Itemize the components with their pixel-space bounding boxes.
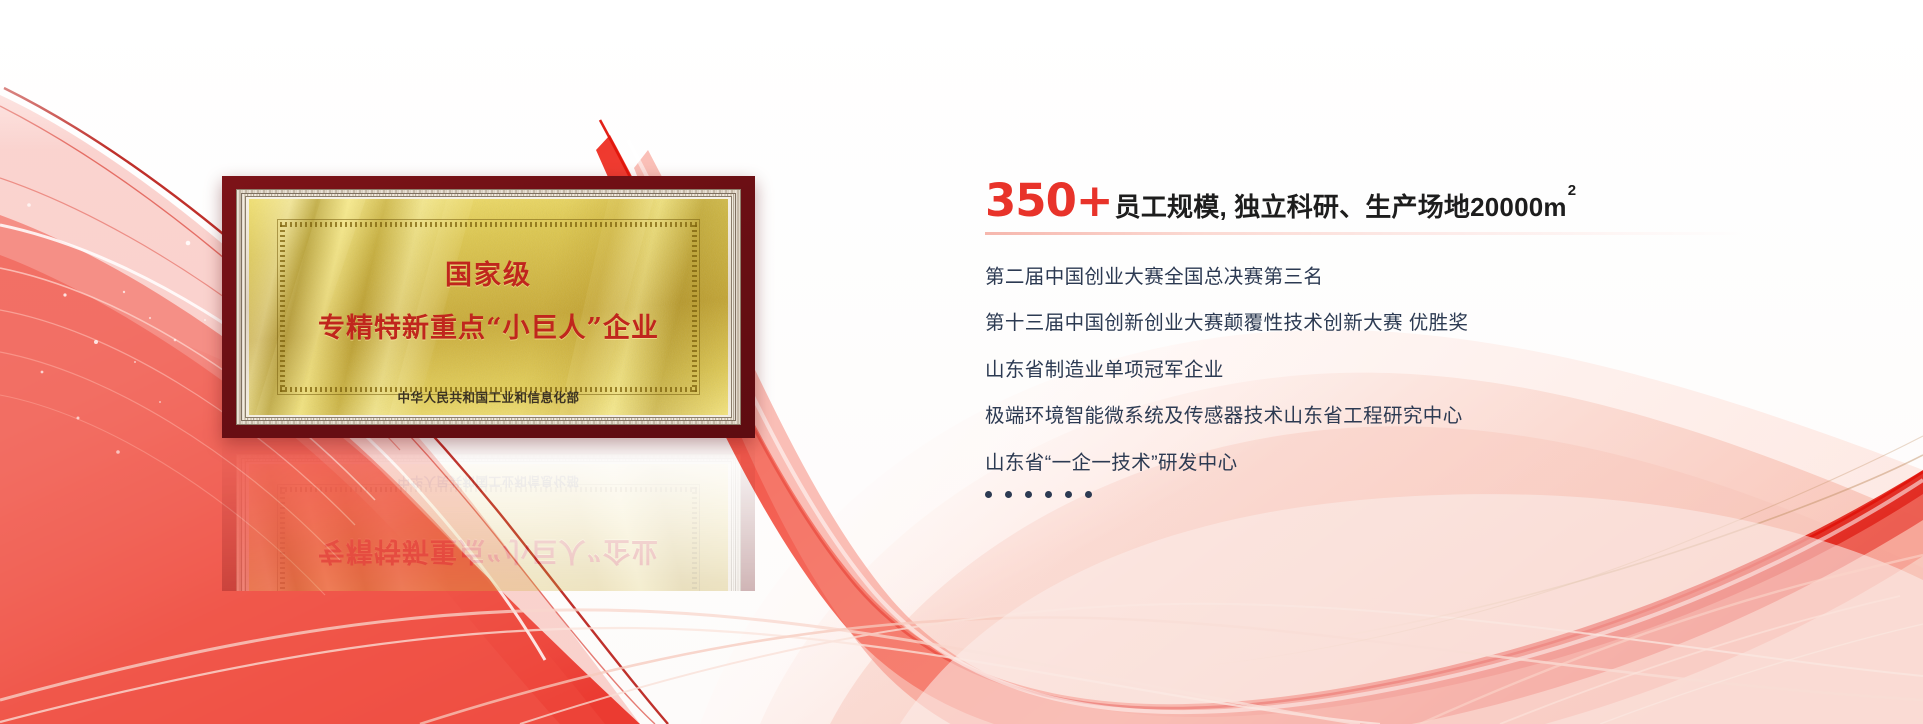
plaque-text-block: 国家级 专精特新重点“小巨人”企业 中华人民共和国工业和信息化部 2024年12… [249, 199, 728, 415]
headline-text-main: 员工规模, 独立科研、生产场地20000m [1115, 192, 1567, 222]
list-item: 第十三届中国创新创业大赛颠覆性技术创新大赛 优胜奖 [985, 311, 1885, 335]
ellipsis-dot [1025, 491, 1032, 498]
plaque-issuer: 中华人民共和国工业和信息化部 [397, 387, 579, 406]
more-items-ellipsis [985, 491, 1885, 498]
headline-text: 员工规模, 独立科研、生产场地20000m2 [1115, 194, 1576, 220]
plaque-mirror-reflection: 国家级 专精特新重点“小巨人”企业 中华人民共和国工业和信息化部 2024年12… [222, 441, 755, 591]
plaque-title-line1: 国家级 [445, 253, 532, 292]
plaque-engraved-border-reflection [277, 484, 700, 591]
plaque-gold-plate-reflection: 国家级 专精特新重点“小巨人”企业 中华人民共和国工业和信息化部 2024年12… [249, 464, 728, 591]
plaque-title-line2-reflection: 专精特新重点“小巨人”企业 [318, 534, 659, 573]
plaque-gold-plate: 国家级 专精特新重点“小巨人”企业 中华人民共和国工业和信息化部 2024年12… [249, 199, 728, 415]
plaque-title-line2: 专精特新重点“小巨人”企业 [318, 306, 659, 345]
plaque-frame-outer-reflection: 国家级 专精特新重点“小巨人”企业 中华人民共和国工业和信息化部 2024年12… [236, 454, 741, 591]
ellipsis-dot [1005, 491, 1012, 498]
plaque-issuer-reflection: 中华人民共和国工业和信息化部 [397, 473, 579, 492]
headline-unit-superscript: 2 [1568, 182, 1577, 199]
ellipsis-dot [1065, 491, 1072, 498]
plaque-text-reflection: 国家级 专精特新重点“小巨人”企业 中华人民共和国工业和信息化部 2024年12… [249, 464, 728, 591]
plaque-reflection-body: 国家级 专精特新重点“小巨人”企业 中华人民共和国工业和信息化部 2024年12… [222, 441, 755, 591]
award-plaque[interactable]: 国家级 专精特新重点“小巨人”企业 中华人民共和国工业和信息化部 2024年12… [222, 176, 755, 438]
banner-stage: 国家级 专精特新重点“小巨人”企业 中华人民共和国工业和信息化部 2024年12… [0, 0, 1923, 724]
plaque-frame-inner: 国家级 专精特新重点“小巨人”企业 中华人民共和国工业和信息化部 2024年12… [245, 196, 732, 418]
plaque-frame-inner-reflection: 国家级 专精特新重点“小巨人”企业 中华人民共和国工业和信息化部 2024年12… [245, 461, 732, 591]
plaque-frame-middle-reflection: 国家级 专精特新重点“小巨人”企业 中华人民共和国工业和信息化部 2024年12… [241, 458, 736, 591]
headline: 350+ 员工规模, 独立科研、生产场地20000m2 [985, 178, 1885, 223]
plaque-title-line1-reflection: 国家级 [445, 587, 532, 591]
headline-number: 350+ [985, 178, 1113, 223]
plaque-frame-outer: 国家级 专精特新重点“小巨人”企业 中华人民共和国工业和信息化部 2024年12… [236, 189, 741, 425]
plaque-frame-middle: 国家级 专精特新重点“小巨人”企业 中华人民共和国工业和信息化部 2024年12… [241, 193, 736, 421]
list-item: 第二届中国创业大赛全国总决赛第三名 [985, 265, 1885, 289]
content-column: 350+ 员工规模, 独立科研、生产场地20000m2 第二届中国创业大赛全国总… [985, 178, 1885, 498]
list-item: 极端环境智能微系统及传感器技术山东省工程研究中心 [985, 404, 1885, 428]
headline-divider-rule [985, 232, 1743, 235]
award-list: 第二届中国创业大赛全国总决赛第三名 第十三届中国创新创业大赛颠覆性技术创新大赛 … [985, 265, 1885, 475]
list-item: 山东省“一企一技术”研发中心 [985, 451, 1885, 475]
plaque-body: 国家级 专精特新重点“小巨人”企业 中华人民共和国工业和信息化部 2024年12… [222, 176, 755, 438]
list-item: 山东省制造业单项冠军企业 [985, 358, 1885, 382]
ellipsis-dot [1085, 491, 1092, 498]
ellipsis-dot [1045, 491, 1052, 498]
ellipsis-dot [985, 491, 992, 498]
